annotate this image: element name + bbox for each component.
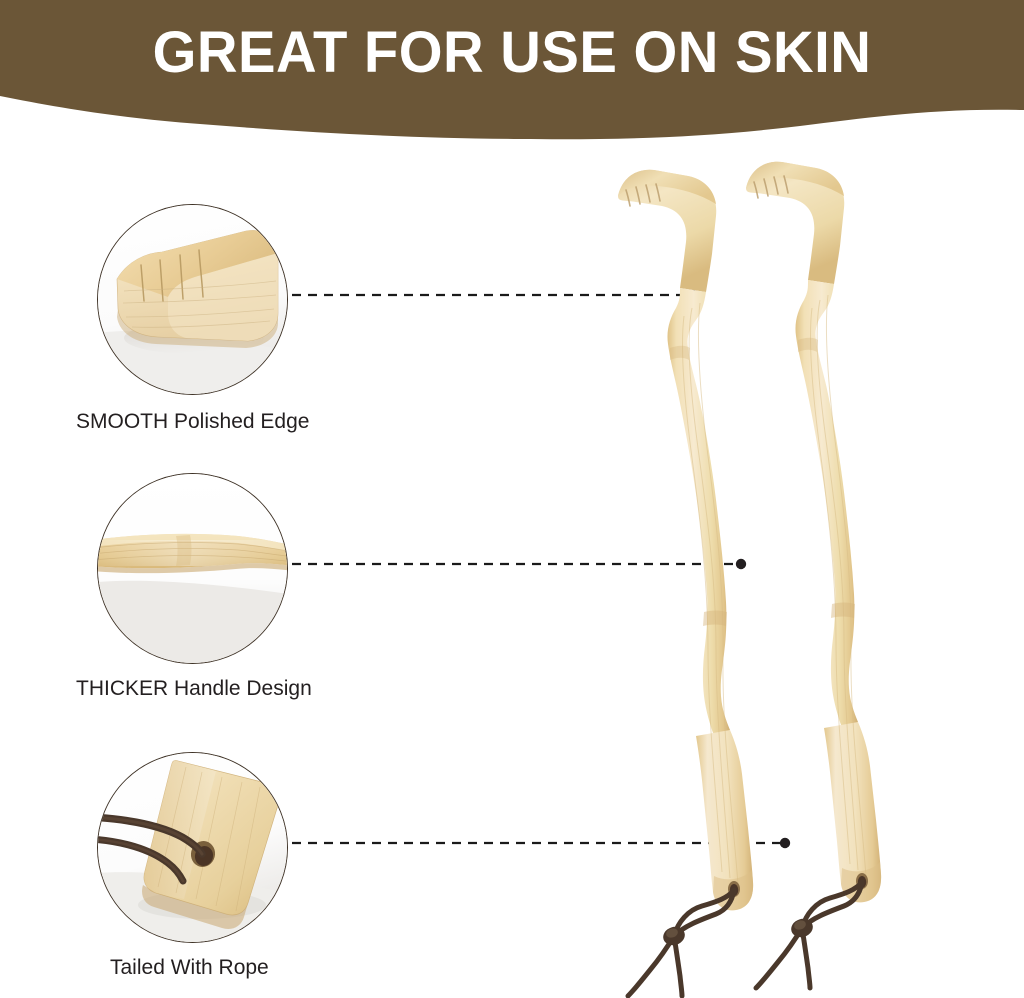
scratcher-node-left (703, 611, 727, 627)
callout-image-tailed-with-rope (97, 752, 288, 943)
bamboo-handle-thickness-profile-icon (98, 474, 288, 664)
bamboo-handle-end-rope-hole-icon (98, 753, 288, 943)
callout-label-thicker-handle-design: THICKER Handle Design (76, 676, 376, 702)
back-scratcher-left (618, 170, 753, 996)
callout-image-thicker-handle-design (97, 473, 288, 664)
callout-tailed-with-rope: Tailed With Rope (97, 752, 288, 943)
bamboo-back-scratcher-pair (596, 158, 996, 998)
callout-thicker-handle-design: THICKER Handle Design (97, 473, 288, 664)
header-banner: GREAT FOR USE ON SKIN (0, 0, 1024, 150)
bamboo-scratcher-head-notches-icon (98, 205, 288, 395)
scratcher-rope-left (628, 890, 734, 996)
back-scratcher-right (746, 162, 881, 988)
callout-label-tailed-with-rope: Tailed With Rope (110, 955, 410, 981)
callout-label-smooth-polished-edge: SMOOTH Polished Edge (76, 409, 376, 435)
callout-image-smooth-polished-edge (97, 204, 288, 395)
page-title: GREAT FOR USE ON SKIN (15, 22, 1008, 84)
scratcher-node-right (831, 603, 855, 619)
callout-smooth-polished-edge: SMOOTH Polished Edge (97, 204, 288, 395)
scratcher-rope-right (756, 882, 862, 988)
product-photo-bamboo-back-scratchers (596, 158, 996, 998)
